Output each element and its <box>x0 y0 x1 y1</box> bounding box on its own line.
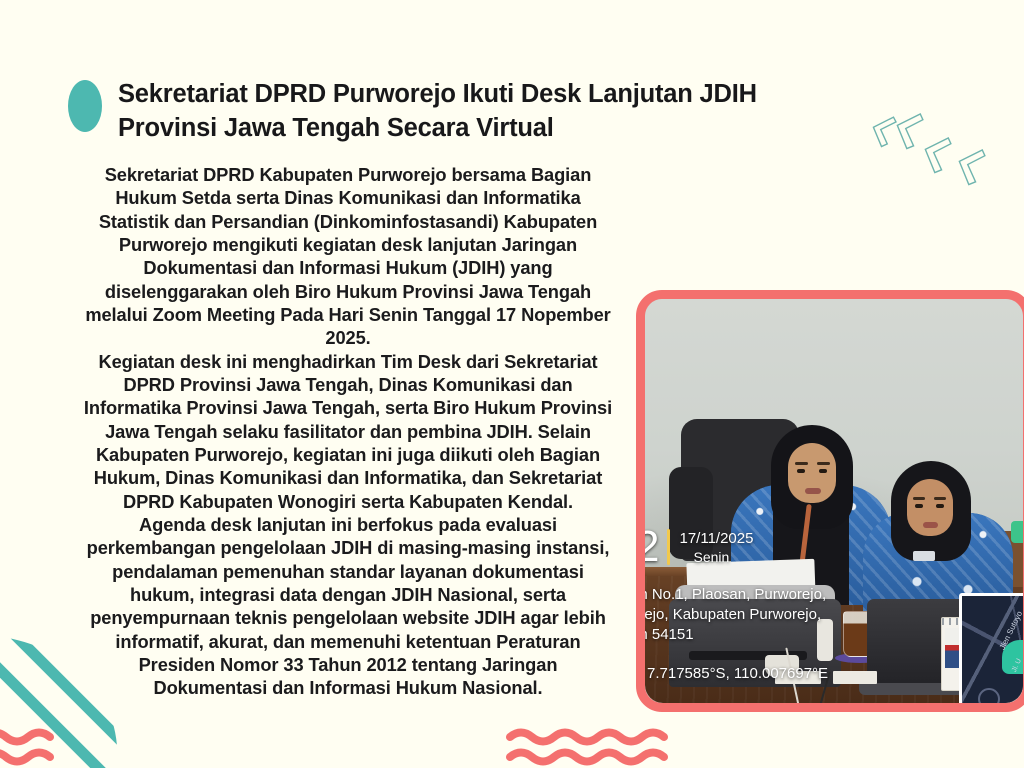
photo-person-1-face <box>788 443 836 503</box>
wavy-lines-decoration-icon <box>506 726 686 768</box>
photo-calendar-spiral <box>942 618 1020 625</box>
article-body: Sekretariat DPRD Kabupaten Purworejo ber… <box>82 163 614 700</box>
photo-person-2-eye-right <box>936 504 944 508</box>
photo-desk-calendar: 202 <box>941 617 1021 691</box>
page-title: Sekretariat DPRD Purworejo Ikuti Desk La… <box>118 78 858 146</box>
wavy-lines-left-decoration-icon <box>0 726 54 768</box>
chevrons-decoration-icon <box>866 104 1024 208</box>
photo-person-1-brow-left <box>795 462 808 465</box>
photo-person-1-brow-right <box>817 462 830 465</box>
photo-desk-label-1 <box>775 671 821 684</box>
photo-green-container <box>1011 521 1023 543</box>
photo-bottle <box>817 619 833 661</box>
photo-person-2-eye-left <box>915 504 923 508</box>
photo-person-2-brow-left <box>913 497 925 500</box>
photo-person-2-brow-right <box>934 497 946 500</box>
meeting-photo: ✦ 202 2 17/11/2025 Senin <box>645 299 1023 703</box>
photo-person-1-eye-right <box>819 469 827 473</box>
photo-calendar-grid <box>991 642 1017 676</box>
article-paragraph-3: Agenda desk lanjutan ini berfokus pada e… <box>82 513 614 700</box>
photo-person-2-name-badge <box>913 551 935 561</box>
article-paragraph-2: Kegiatan desk ini menghadirkan Tim Desk … <box>82 350 614 513</box>
page-title-row: Sekretariat DPRD Purworejo Ikuti Desk La… <box>68 78 858 146</box>
photo-person-1-eye-left <box>797 469 805 473</box>
poster-canvas: Sekretariat DPRD Purworejo Ikuti Desk La… <box>0 0 1024 768</box>
title-bullet-ellipse-icon <box>68 80 102 132</box>
photo-person-1-mouth <box>805 488 821 494</box>
photo-calendar-year: 202 <box>1002 629 1017 639</box>
photo-office-chair-arm <box>669 467 713 559</box>
article-paragraph-1: Sekretariat DPRD Kabupaten Purworejo ber… <box>82 163 614 350</box>
photo-desk-label-2 <box>833 671 877 684</box>
photo-card: ✦ 202 2 17/11/2025 Senin <box>636 290 1024 712</box>
photo-calendar-image <box>945 628 991 668</box>
photo-person-2-mouth <box>923 522 938 528</box>
